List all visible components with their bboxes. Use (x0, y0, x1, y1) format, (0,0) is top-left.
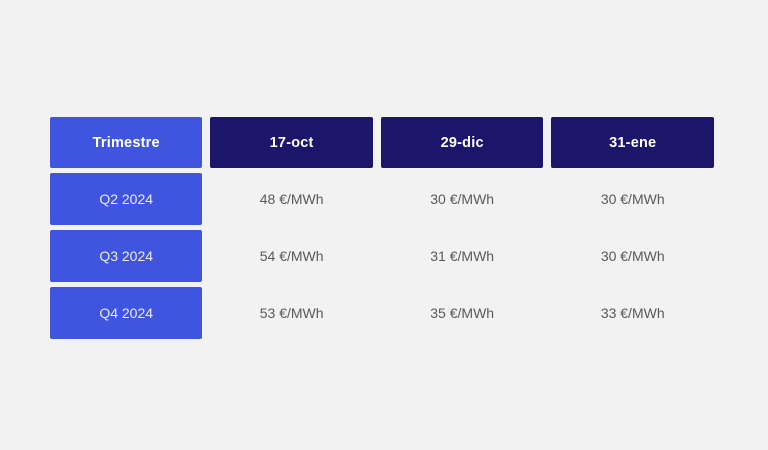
cell-q2-2024-31-ene: 30 €/MWh (551, 173, 714, 225)
cell-q4-2024-17-oct: 53 €/MWh (210, 287, 373, 339)
table-header-row: Trimestre 17-oct 29-dic 31-ene (50, 117, 714, 168)
cell-q3-2024-31-ene: 30 €/MWh (551, 230, 714, 282)
page-root: Trimestre 17-oct 29-dic 31-ene Q2 2024 4… (0, 0, 768, 450)
table-body: Q2 2024 48 €/MWh 30 €/MWh 30 €/MWh Q3 20… (50, 173, 714, 339)
table-row: Q3 2024 54 €/MWh 31 €/MWh 30 €/MWh (50, 230, 714, 282)
cell-q3-2024-17-oct: 54 €/MWh (210, 230, 373, 282)
row-label-q4-2024: Q4 2024 (50, 287, 202, 339)
cell-q2-2024-17-oct: 48 €/MWh (210, 173, 373, 225)
row-label-q2-2024: Q2 2024 (50, 173, 202, 225)
column-header-31-ene: 31-ene (551, 117, 714, 168)
row-label-q3-2024: Q3 2024 (50, 230, 202, 282)
column-header-trimestre: Trimestre (50, 117, 202, 168)
price-table: Trimestre 17-oct 29-dic 31-ene Q2 2024 4… (42, 112, 722, 344)
cell-q4-2024-29-dic: 35 €/MWh (381, 287, 544, 339)
cell-q3-2024-29-dic: 31 €/MWh (381, 230, 544, 282)
table-row: Q4 2024 53 €/MWh 35 €/MWh 33 €/MWh (50, 287, 714, 339)
cell-q2-2024-29-dic: 30 €/MWh (381, 173, 544, 225)
table-row: Q2 2024 48 €/MWh 30 €/MWh 30 €/MWh (50, 173, 714, 225)
cell-q4-2024-31-ene: 33 €/MWh (551, 287, 714, 339)
column-header-29-dic: 29-dic (381, 117, 544, 168)
column-header-17-oct: 17-oct (210, 117, 373, 168)
table-header: Trimestre 17-oct 29-dic 31-ene (50, 117, 714, 168)
